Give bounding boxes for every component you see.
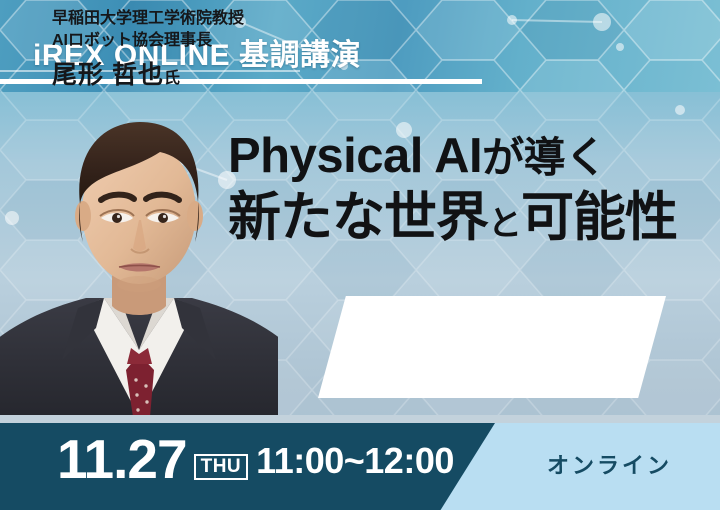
- speaker-name-suffix: 氏: [164, 70, 181, 87]
- format-label: オンライン: [547, 448, 672, 480]
- schedule-day-of-week-badge: THU: [194, 454, 249, 480]
- main-title-line-2: 新たな世界と可能性: [228, 191, 720, 244]
- schedule-text: 11.27 THU 11:00~12:00: [57, 432, 454, 487]
- speaker-name: 尾形 哲也氏: [52, 55, 332, 91]
- main-title-jp-tail: が導く: [482, 134, 607, 181]
- speaker-info-content: 早稲田大学理工学術院教授 AIロボット協会理事長 尾形 哲也氏: [52, 8, 332, 91]
- divider-strip: [0, 415, 720, 423]
- seminar-banner: iREX ONLINE 基調講演: [0, 0, 720, 510]
- speaker-name-text: 尾形 哲也: [52, 61, 164, 89]
- main-title-jp-particle: と: [488, 205, 521, 243]
- main-title-line-1: Physical AIが導く: [228, 132, 720, 181]
- schedule-date: 11.27: [57, 432, 187, 487]
- main-title-latin: Physical AI: [228, 129, 482, 183]
- speaker-affiliation-1: 早稲田大学理工学術院教授: [52, 8, 332, 30]
- main-title-jp-a: 新たな世界: [228, 188, 488, 247]
- main-title-jp-b: 可能性: [521, 188, 677, 247]
- speaker-info-box: [318, 296, 666, 398]
- schedule-time: 11:00~12:00: [256, 440, 454, 482]
- speaker-affiliation-2: AIロボット協会理事長: [52, 30, 332, 52]
- main-title: Physical AIが導く 新たな世界と可能性: [228, 132, 720, 244]
